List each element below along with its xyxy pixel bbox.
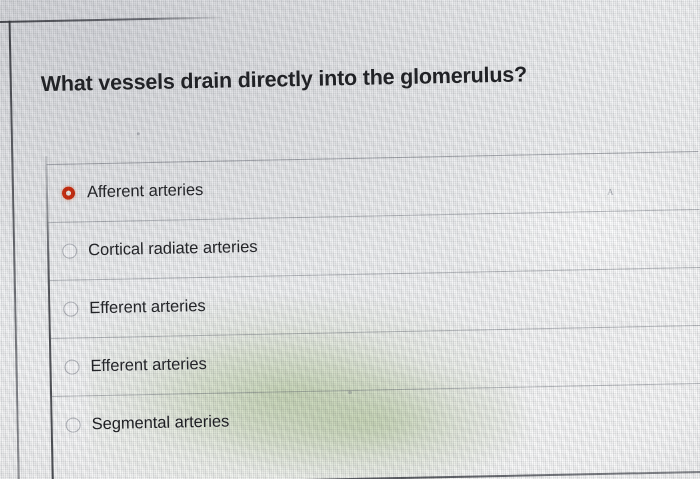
answer-option-label: Afferent arteries xyxy=(87,181,204,202)
radio-unselected-icon[interactable] xyxy=(66,417,81,432)
photo-speck-artifact xyxy=(348,391,352,394)
radio-unselected-icon[interactable] xyxy=(62,243,77,258)
stray-mark-artifact: A xyxy=(607,187,614,197)
answer-option-label: Efferent arteries xyxy=(90,355,207,376)
answer-option-label: Cortical radiate arteries xyxy=(88,238,258,260)
answer-options-list: Afferent arteries Cortical radiate arter… xyxy=(46,151,700,454)
window-frame-top-edge xyxy=(0,16,226,23)
answer-option-label: Segmental arteries xyxy=(91,412,229,434)
answer-option-row[interactable]: Segmental arteries xyxy=(51,383,700,454)
content-plane: What vessels drain directly into the glo… xyxy=(0,0,700,479)
question-text: What vessels drain directly into the glo… xyxy=(41,60,661,97)
photo-speck-artifact xyxy=(137,132,140,135)
photographed-quiz-screen: What vessels drain directly into the glo… xyxy=(0,0,700,479)
answer-option-label: Efferent arteries xyxy=(89,297,206,318)
window-frame-left-edge xyxy=(9,21,20,479)
radio-selected-icon[interactable] xyxy=(61,185,76,200)
radio-unselected-icon[interactable] xyxy=(64,359,79,374)
radio-unselected-icon[interactable] xyxy=(63,301,78,316)
